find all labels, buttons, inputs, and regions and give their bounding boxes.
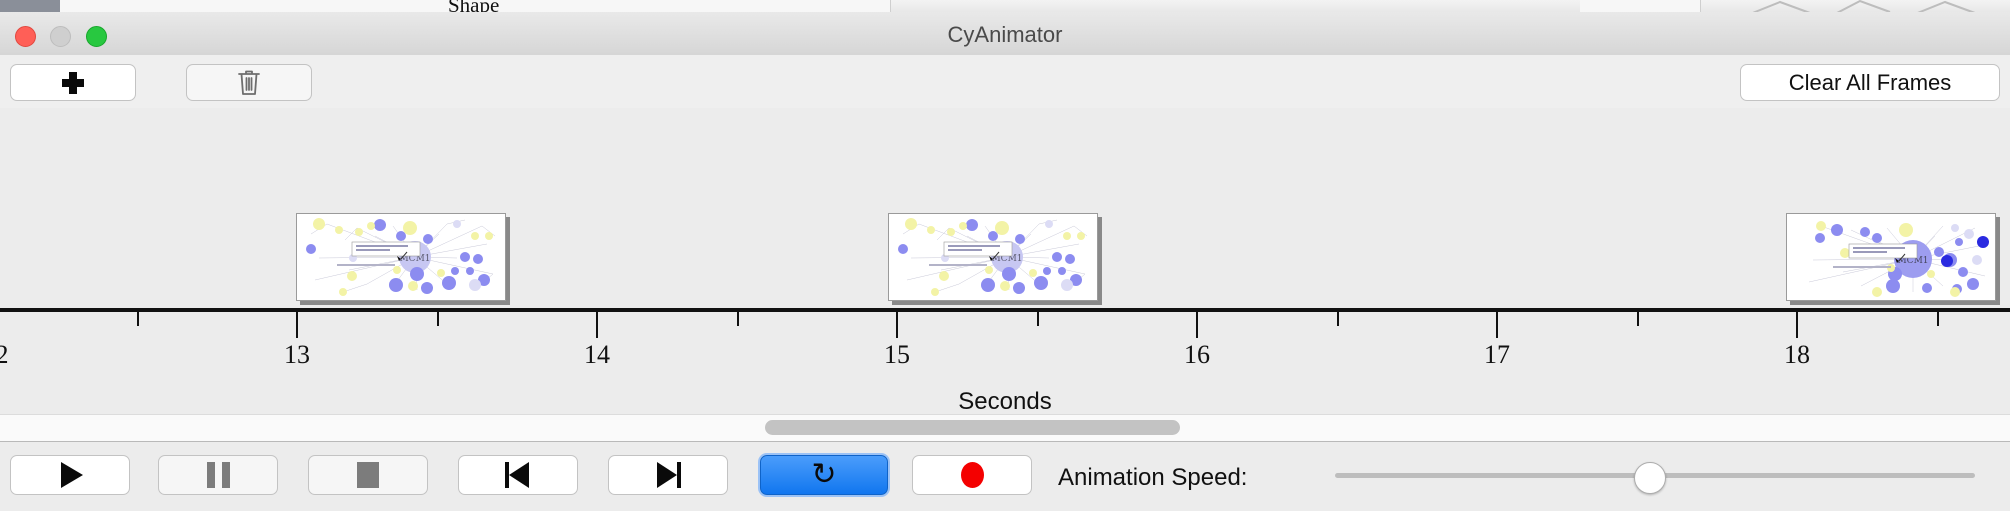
cyanimator-window: Shape CyAnimator Clear All Frames (0, 0, 2010, 510)
plus-icon (62, 72, 84, 94)
loop-icon: ↻ (811, 460, 836, 490)
network-thumbnail-icon: MCM1 (297, 214, 505, 300)
ruler-tick-minor (1937, 312, 1939, 326)
ruler-tick-minor (1337, 312, 1339, 326)
ruler-tick-major (296, 312, 298, 338)
pause-icon (207, 462, 230, 488)
ruler-label: 16 (1184, 340, 1210, 370)
ruler-label: 17 (1484, 340, 1510, 370)
trash-icon (237, 69, 261, 96)
network-thumbnail-icon: MCM1 (889, 214, 1097, 300)
keyframe-thumbnail-3[interactable]: MCM1 (1786, 213, 1996, 301)
play-icon (61, 462, 83, 488)
pause-button[interactable] (158, 455, 278, 495)
network-thumbnail-icon: MCM1 (1787, 214, 1995, 300)
ruler-tick-major (1496, 312, 1498, 338)
timeline-scrollbar[interactable] (0, 414, 2010, 442)
ruler-tick-minor (737, 312, 739, 326)
playback-controls: ↻ Animation Speed: (0, 441, 2010, 511)
ruler-tick-minor (1037, 312, 1039, 326)
keyframe-thumbnail-2[interactable]: MCM1 (888, 213, 1098, 301)
ruler-label: 14 (584, 340, 610, 370)
previous-frame-button[interactable] (458, 455, 578, 495)
ruler-baseline (0, 308, 2010, 312)
record-button[interactable] (912, 455, 1032, 495)
skip-next-icon (655, 462, 681, 488)
title-bar: CyAnimator (0, 12, 2010, 56)
ruler-label: 15 (884, 340, 910, 370)
add-frame-button[interactable] (10, 64, 136, 101)
timeline-panel[interactable]: MCM1 (0, 108, 2010, 414)
toolbar: Clear All Frames (0, 55, 2010, 109)
timeline-ruler[interactable]: 2 13 14 15 16 17 18 Seconds (0, 308, 2010, 309)
keyframe-thumbnail-1[interactable]: MCM1 (296, 213, 506, 301)
ruler-label: 18 (1784, 340, 1810, 370)
record-icon (961, 462, 984, 488)
play-button[interactable] (10, 455, 130, 495)
clear-all-frames-button[interactable]: Clear All Frames (1740, 64, 2000, 101)
ruler-tick-major (1196, 312, 1198, 338)
window-title: CyAnimator (0, 22, 2010, 48)
stop-icon (357, 462, 379, 488)
clear-all-frames-label: Clear All Frames (1789, 70, 1952, 96)
ruler-tick-major (896, 312, 898, 338)
ruler-tick-major (596, 312, 598, 338)
ruler-label: 13 (284, 340, 310, 370)
axis-title: Seconds (0, 388, 2010, 414)
delete-frame-button[interactable] (186, 64, 312, 101)
scrollbar-thumb[interactable] (765, 420, 1180, 435)
skip-previous-icon (505, 462, 531, 488)
animation-speed-slider-thumb[interactable] (1634, 462, 1666, 494)
animation-speed-label: Animation Speed: (1058, 464, 1247, 492)
loop-button[interactable]: ↻ (760, 455, 888, 495)
ruler-tick-minor (137, 312, 139, 326)
ruler-tick-minor (1637, 312, 1639, 326)
ruler-tick-minor (437, 312, 439, 326)
next-frame-button[interactable] (608, 455, 728, 495)
ruler-tick-major (1796, 312, 1798, 338)
ruler-label: 2 (0, 340, 9, 370)
stop-button[interactable] (308, 455, 428, 495)
